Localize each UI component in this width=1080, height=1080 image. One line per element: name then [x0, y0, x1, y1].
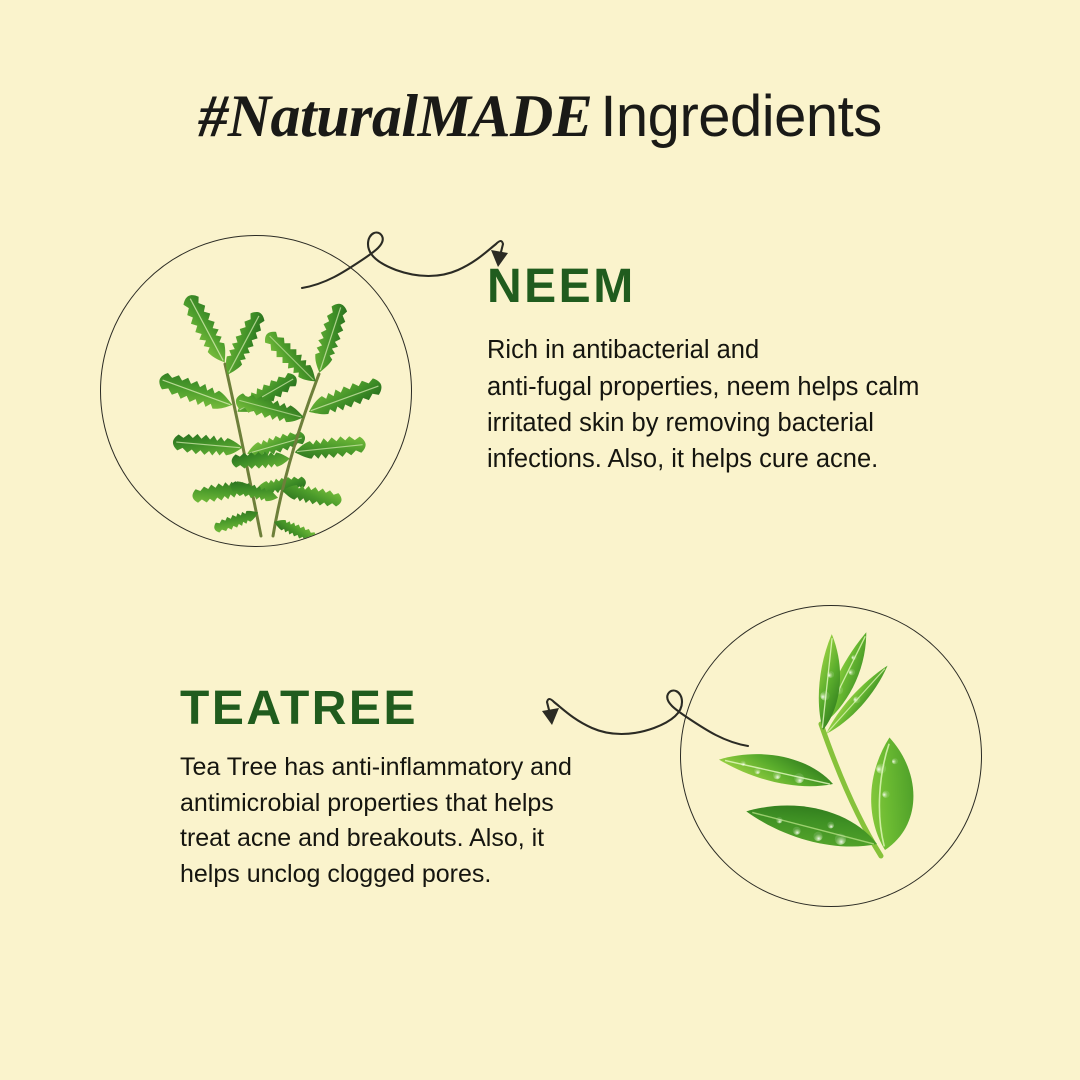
page-title-plain: Ingredients [600, 84, 881, 149]
neem-heading: NEEM [487, 262, 1027, 312]
teatree-text-block: TEATREE Tea Tree has anti-inflammatory a… [180, 684, 680, 892]
page-title-hashtag: #NaturalMADE [198, 83, 592, 149]
teatree-image-circle [680, 605, 982, 907]
ingredients-poster: #NaturalMADEIngredients [0, 0, 1080, 1080]
page-title: #NaturalMADEIngredients [0, 86, 1080, 146]
teatree-description: Tea Tree has anti-inflammatory and antim… [180, 750, 680, 892]
neem-image-circle [100, 235, 412, 547]
neem-description: Rich in antibacterial and anti-fugal pro… [487, 332, 1027, 477]
teatree-leaves-illustration [681, 606, 981, 906]
teatree-heading: TEATREE [180, 684, 680, 734]
neem-text-block: NEEM Rich in antibacterial and anti-fuga… [487, 262, 1027, 477]
neem-leaves-illustration [101, 236, 411, 546]
